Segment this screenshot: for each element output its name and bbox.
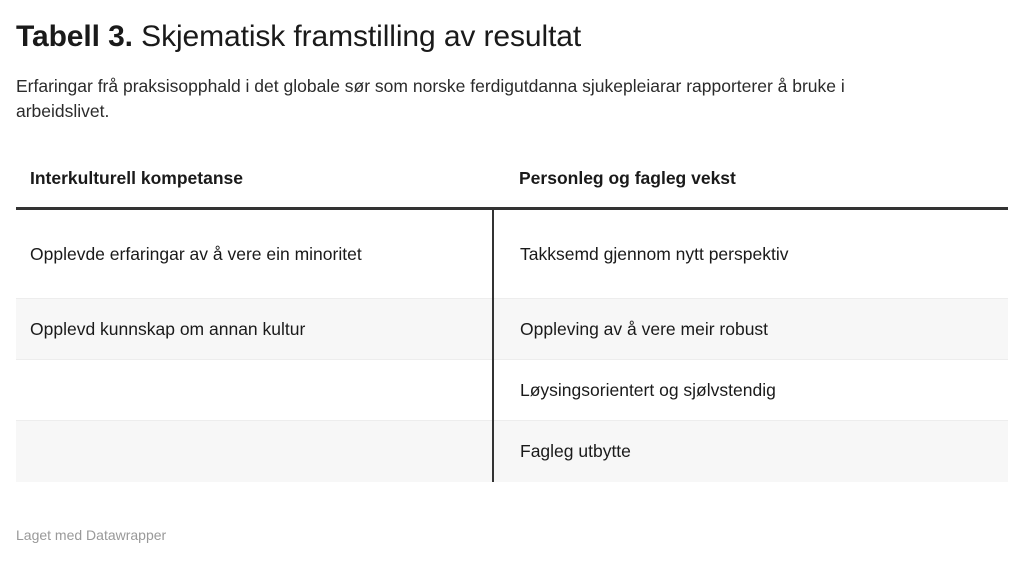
column-header-personleg-og-fagleg-vekst: Personleg og fagleg vekst <box>493 168 1008 209</box>
page-title-text: Skjematisk framstilling av resultat <box>133 20 581 53</box>
table-body: Opplevde erfaringar av å vere ein minori… <box>16 209 1008 482</box>
table-header-row: Interkulturell kompetanse Personleg og f… <box>16 168 1008 209</box>
cell-left: Opplevde erfaringar av å vere ein minori… <box>16 209 493 299</box>
page-subtitle: Erfaringar frå praksisopphald i det glob… <box>16 74 916 124</box>
results-table: Interkulturell kompetanse Personleg og f… <box>16 168 1008 482</box>
cell-left <box>16 421 493 482</box>
table-row: Opplevde erfaringar av å vere ein minori… <box>16 209 1008 299</box>
cell-left: Opplevd kunnskap om annan kultur <box>16 299 493 360</box>
table-container: Interkulturell kompetanse Personleg og f… <box>16 168 1008 482</box>
cell-right: Fagleg utbytte <box>493 421 1008 482</box>
column-header-interkulturell-kompetanse: Interkulturell kompetanse <box>16 168 493 209</box>
cell-right: Takksemd gjennom nytt perspektiv <box>493 209 1008 299</box>
table-row: Løysingsorientert og sjølvstendig <box>16 360 1008 421</box>
cell-right: Løysingsorientert og sjølvstendig <box>493 360 1008 421</box>
table-figure: Tabell 3. Skjematisk framstilling av res… <box>0 0 1024 563</box>
datawrapper-credit[interactable]: Laget med Datawrapper <box>16 525 166 545</box>
page-title: Tabell 3. Skjematisk framstilling av res… <box>16 18 581 56</box>
page-title-label: Tabell 3. <box>16 20 133 53</box>
table-row: Opplevd kunnskap om annan kultur Opplevi… <box>16 299 1008 360</box>
table-header: Interkulturell kompetanse Personleg og f… <box>16 168 1008 209</box>
cell-right: Oppleving av å vere meir robust <box>493 299 1008 360</box>
cell-left <box>16 360 493 421</box>
table-row: Fagleg utbytte <box>16 421 1008 482</box>
